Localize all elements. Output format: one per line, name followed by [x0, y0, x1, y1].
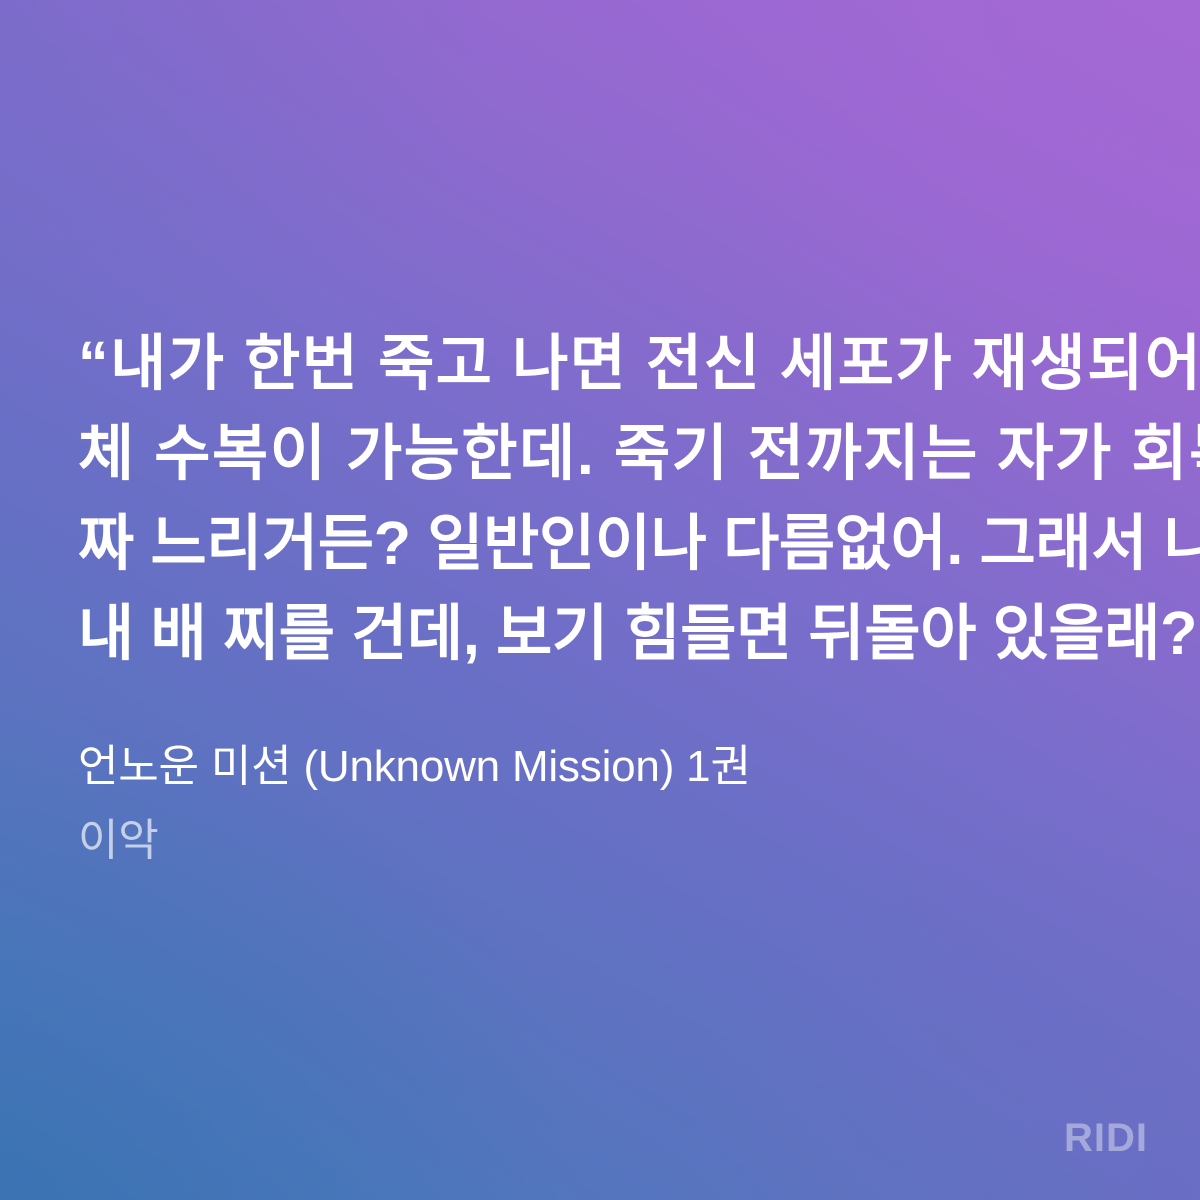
attribution: 언노운 미션 (Unknown Mission) 1권 이악: [78, 734, 1122, 874]
quote-line-1: “내가 한번 죽고 나면 전신 세포가 재생되어서 신: [78, 318, 1122, 408]
quote-card: “내가 한번 죽고 나면 전신 세포가 재생되어서 신 체 수복이 가능한데. …: [0, 0, 1200, 1200]
quote-line-3: 짜 느리거든? 일반인이나 다름없어. 그래서 나 지금: [78, 498, 1122, 588]
quote-text: “내가 한번 죽고 나면 전신 세포가 재생되어서 신 체 수복이 가능한데. …: [78, 318, 1122, 678]
book-author: 이악: [78, 808, 1122, 874]
quote-line-4: 내 배 찌를 건데, 보기 힘들면 뒤돌아 있을래?”: [78, 588, 1122, 678]
card-content: “내가 한번 죽고 나면 전신 세포가 재생되어서 신 체 수복이 가능한데. …: [78, 318, 1122, 874]
ridi-logo: RIDI: [1064, 1118, 1148, 1158]
quote-line-2: 체 수복이 가능한데. 죽기 전까지는 자가 회복이 진: [78, 408, 1122, 498]
book-title: 언노운 미션 (Unknown Mission) 1권: [78, 734, 1122, 800]
